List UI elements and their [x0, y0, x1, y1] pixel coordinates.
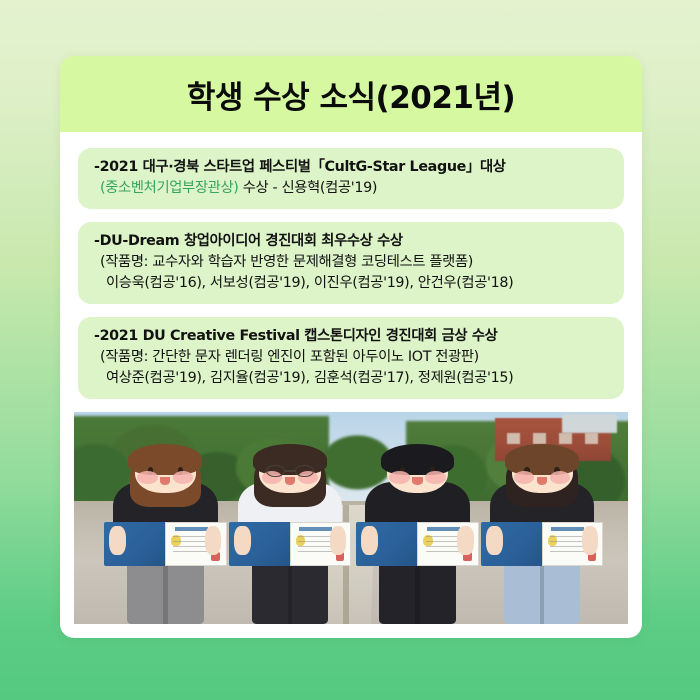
card-header: 학생 수상 소식(2021년) [60, 56, 642, 132]
award-news-card: 학생 수상 소식(2021년) -2021 대구·경북 스타트업 페스티벌「Cu… [60, 56, 642, 638]
certificate-3-emblem [423, 535, 432, 546]
student-1-arm-right [205, 526, 222, 555]
student-figure-1 [102, 442, 229, 624]
student-1-mouth [160, 477, 170, 484]
card-body: -2021 대구·경북 스타트업 페스티벌「CultG-Star League」… [60, 132, 642, 399]
student-4-arm-left [486, 526, 503, 555]
student-3-cheek-right [425, 471, 445, 484]
student-4-arm-right [582, 526, 599, 555]
award-1-title: -2021 대구·경북 스타트업 페스티벌「CultG-Star League」… [92, 157, 610, 178]
student-2-mouth [285, 477, 295, 484]
award-1-detail: (중소벤처기업부장관상) 수상 - 신용혁(컴공'19) [92, 178, 610, 199]
award-2-project: (작품명: 교수자와 학습자 반영한 문제해결형 코딩테스트 플랫폼) [92, 252, 610, 273]
student-3-cheek-left [389, 471, 409, 484]
award-2-title: -DU-Dream 창업아이디어 경진대회 최우수상 수상 [92, 231, 610, 252]
certificate-2-emblem [296, 535, 305, 546]
award-1-accent: (중소벤처기업부장관상) [100, 180, 239, 196]
photo-scene [74, 412, 628, 624]
student-4-hair [505, 444, 579, 475]
certificate-1-emblem [171, 535, 180, 546]
student-1-cheek-right [173, 471, 193, 484]
white-building [562, 414, 617, 433]
student-1-hair [128, 444, 202, 475]
student-3-arm-left [361, 526, 378, 555]
student-2-glasses-icon [266, 465, 314, 478]
student-3-hair [381, 444, 455, 475]
award-3-title: -2021 DU Creative Festival 캡스톤디자인 경진대회 금… [92, 326, 610, 347]
page-title: 학생 수상 소식(2021년) [187, 72, 515, 117]
student-2-arm-right [330, 526, 347, 555]
award-1-recipients: 수상 - 신용혁(컴공'19) [239, 180, 378, 196]
award-photo [74, 412, 628, 624]
student-3-arm-right [457, 526, 474, 555]
award-3-recipients: 여상준(컴공'19), 김지율(컴공'19), 김훈석(컴공'17), 정제원(… [92, 368, 610, 389]
student-4-mouth [537, 477, 547, 484]
student-figure-3 [354, 442, 481, 624]
award-item-2: -DU-Dream 창업아이디어 경진대회 최우수상 수상 (작품명: 교수자와… [78, 222, 624, 304]
student-1-arm-left [109, 526, 126, 555]
student-4-cheek-left [514, 471, 534, 484]
student-2-arm-left [234, 526, 251, 555]
certificate-4-emblem [548, 535, 557, 546]
student-figure-2 [226, 442, 353, 624]
award-item-1: -2021 대구·경북 스타트업 페스티벌「CultG-Star League」… [78, 148, 624, 209]
student-4-cheek-right [550, 471, 570, 484]
award-2-recipients: 이승욱(컴공'16), 서보성(컴공'19), 이진우(컴공'19), 안건우(… [92, 273, 610, 294]
award-item-3: -2021 DU Creative Festival 캡스톤디자인 경진대회 금… [78, 317, 624, 399]
student-1-cheek-left [137, 471, 157, 484]
award-3-project: (작품명: 간단한 문자 렌더링 엔진이 포함된 아두이노 IOT 전광판) [92, 347, 610, 368]
student-figure-4 [478, 442, 605, 624]
student-3-mouth [412, 477, 422, 484]
